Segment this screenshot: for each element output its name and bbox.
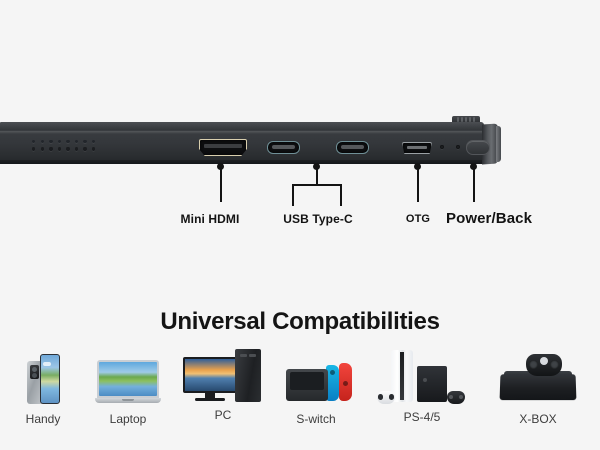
- monitor-highlight: [0, 131, 484, 134]
- device-item-handy: Handy: [10, 350, 76, 426]
- laptop-base: [95, 398, 161, 403]
- device-item-laptop: Laptop: [88, 350, 168, 426]
- port-usb-type-c-1: [267, 141, 300, 154]
- switch-joycon-right: [339, 363, 352, 401]
- port-usb-type-c-2: [336, 141, 369, 154]
- callout-line-usb-type-c: [316, 168, 318, 185]
- power-button: [466, 140, 490, 155]
- device-label-laptop: Laptop: [88, 412, 168, 426]
- led-indicator-2: [456, 145, 460, 149]
- switch-console-body: [286, 369, 328, 401]
- phone-camera: [30, 365, 39, 379]
- device-label-switch: S-witch: [272, 412, 360, 426]
- ps4-controller: [447, 391, 465, 404]
- pc-monitor: [183, 357, 237, 393]
- port-label-power-back: Power/Back: [446, 210, 532, 227]
- xbox-console-body: [500, 374, 577, 400]
- xbox-controller: [526, 354, 562, 376]
- port-label-mini-hdmi: Mini HDMI: [181, 212, 240, 226]
- port-label-usb-type-c: USB Type-C: [283, 212, 352, 226]
- switch-screen: [290, 372, 324, 390]
- device-label-playstation: PS-4/5: [370, 410, 474, 424]
- playstation-console-icon: [370, 346, 474, 408]
- smartphone-icon: [10, 350, 76, 408]
- device-label-xbox: X-BOX: [490, 412, 586, 426]
- callout-line-mini-hdmi: [220, 168, 222, 202]
- monitor-right-edge: [496, 126, 501, 162]
- ps4-console: [417, 366, 447, 402]
- compatibility-title: Universal Compatibilities: [0, 308, 600, 336]
- game-console-switch-icon: [272, 350, 360, 408]
- compatible-devices-list: Handy Laptop PC: [0, 344, 600, 444]
- device-label-pc: PC: [180, 408, 266, 422]
- port-label-otg: OTG: [406, 213, 430, 225]
- speaker-grille: [32, 140, 120, 154]
- laptop-icon: [88, 350, 168, 408]
- led-indicator-1: [440, 145, 444, 149]
- infographic-canvas: Mini HDMI USB Type-C OTG Power/Back Univ…: [0, 0, 600, 450]
- device-item-pc: PC: [180, 344, 266, 422]
- port-otg-micro-usb: [402, 142, 432, 154]
- port-mini-hdmi: [199, 139, 247, 156]
- desktop-pc-icon: [180, 344, 266, 408]
- pc-monitor-foot: [195, 398, 225, 401]
- device-item-xbox: X-BOX: [490, 350, 586, 426]
- device-label-handy: Handy: [10, 412, 76, 426]
- callout-line-power-back: [473, 168, 475, 202]
- xbox-console-icon: [490, 350, 586, 408]
- device-item-playstation: PS-4/5: [370, 346, 474, 424]
- laptop-screen: [97, 360, 159, 398]
- xbox-guide-button: [540, 357, 548, 365]
- ps5-controller: [377, 391, 395, 404]
- callout-bracket-usb-type-c: [292, 184, 342, 206]
- device-item-switch: S-witch: [272, 350, 360, 426]
- phone-screen: [40, 354, 60, 404]
- pc-tower: [235, 349, 261, 402]
- callout-line-otg: [417, 168, 419, 202]
